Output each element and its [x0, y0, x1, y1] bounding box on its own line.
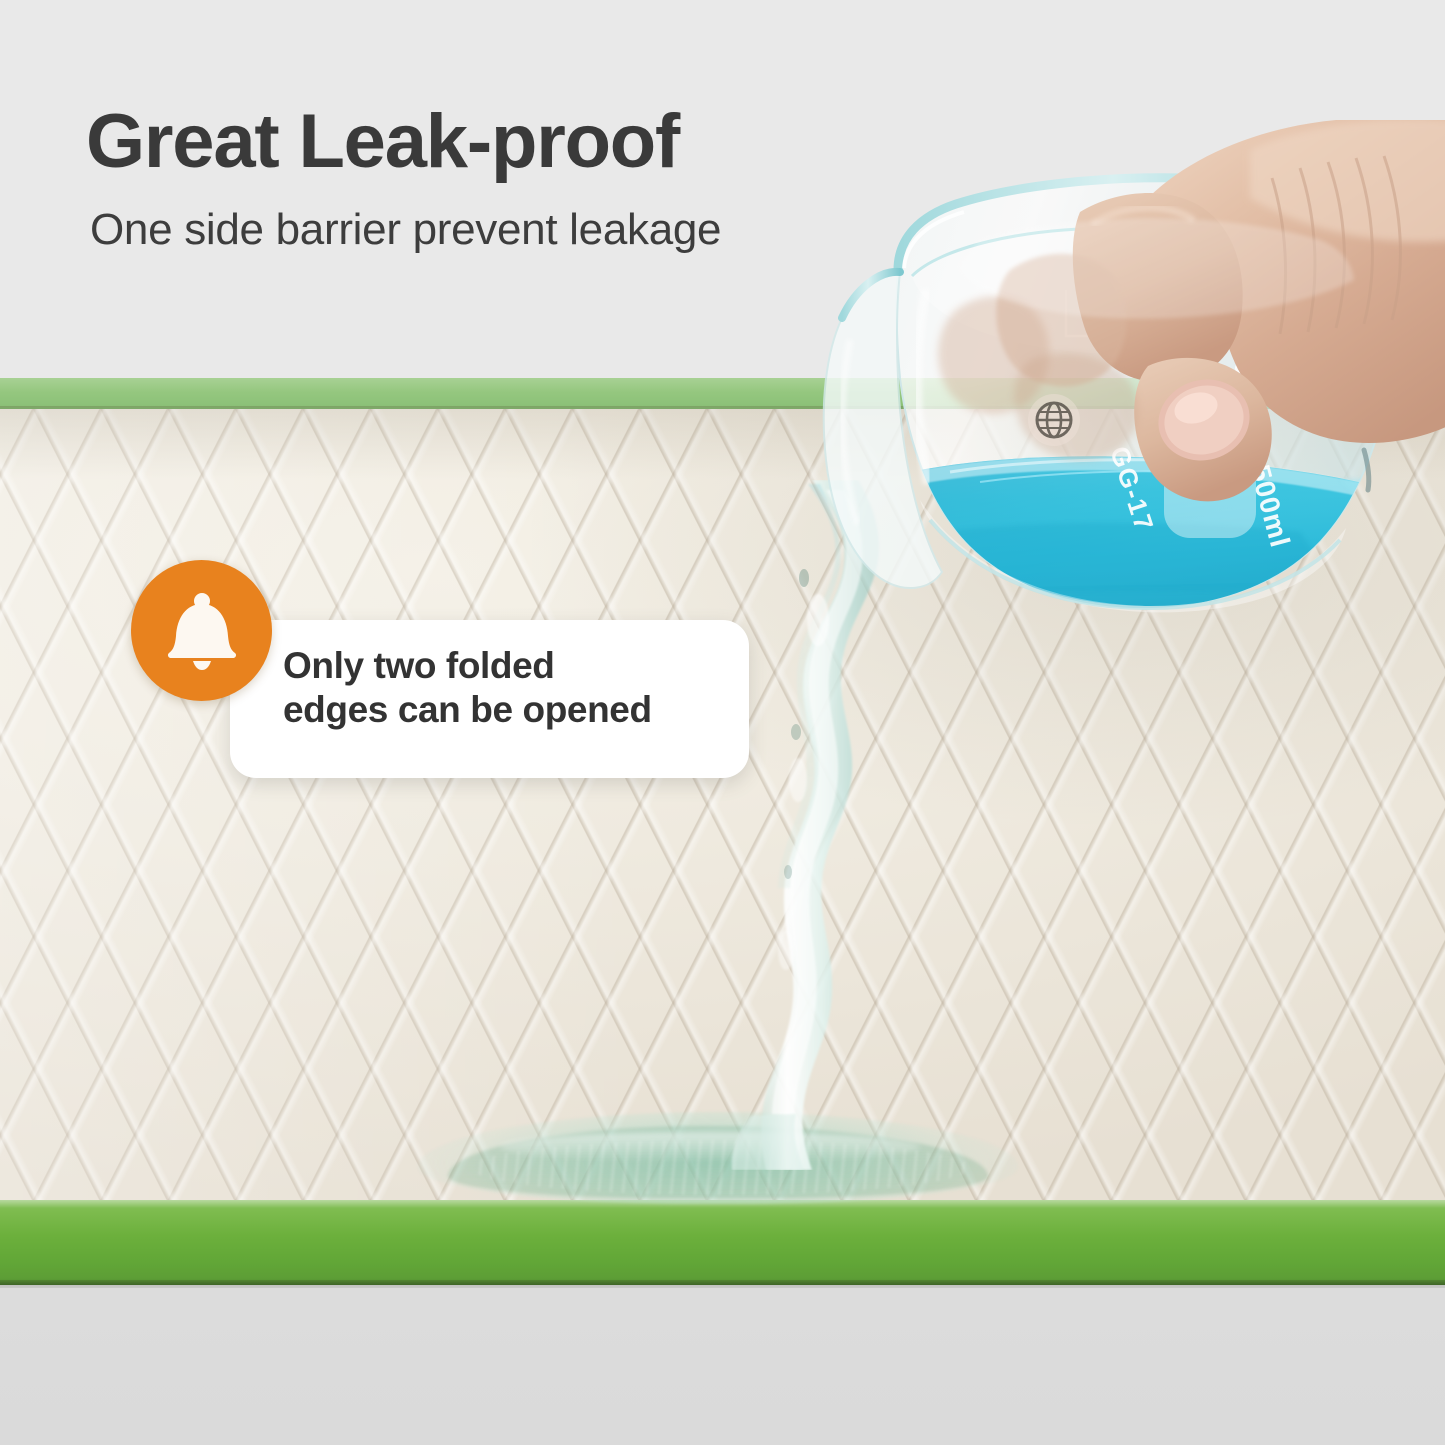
hand-holding-beaker: 500 APPROX 300 200 100 [780, 120, 1445, 760]
page-subtitle: One side barrier prevent leakage [90, 208, 721, 252]
callout-text: Only two folded edges can be opened [283, 644, 753, 733]
page-title: Great Leak-proof [86, 104, 679, 180]
product-feature-image: Great Leak-proof One side barrier preven… [0, 0, 1445, 1445]
callout-badge [131, 560, 272, 701]
bell-icon [165, 592, 239, 670]
mat-border-bottom-barrier [0, 1200, 1445, 1285]
feature-callout: Only two folded edges can be opened [131, 560, 751, 780]
footer-band [0, 1288, 1445, 1445]
callout-line-1: Only two folded [283, 644, 753, 688]
callout-line-2: edges can be opened [283, 688, 753, 732]
